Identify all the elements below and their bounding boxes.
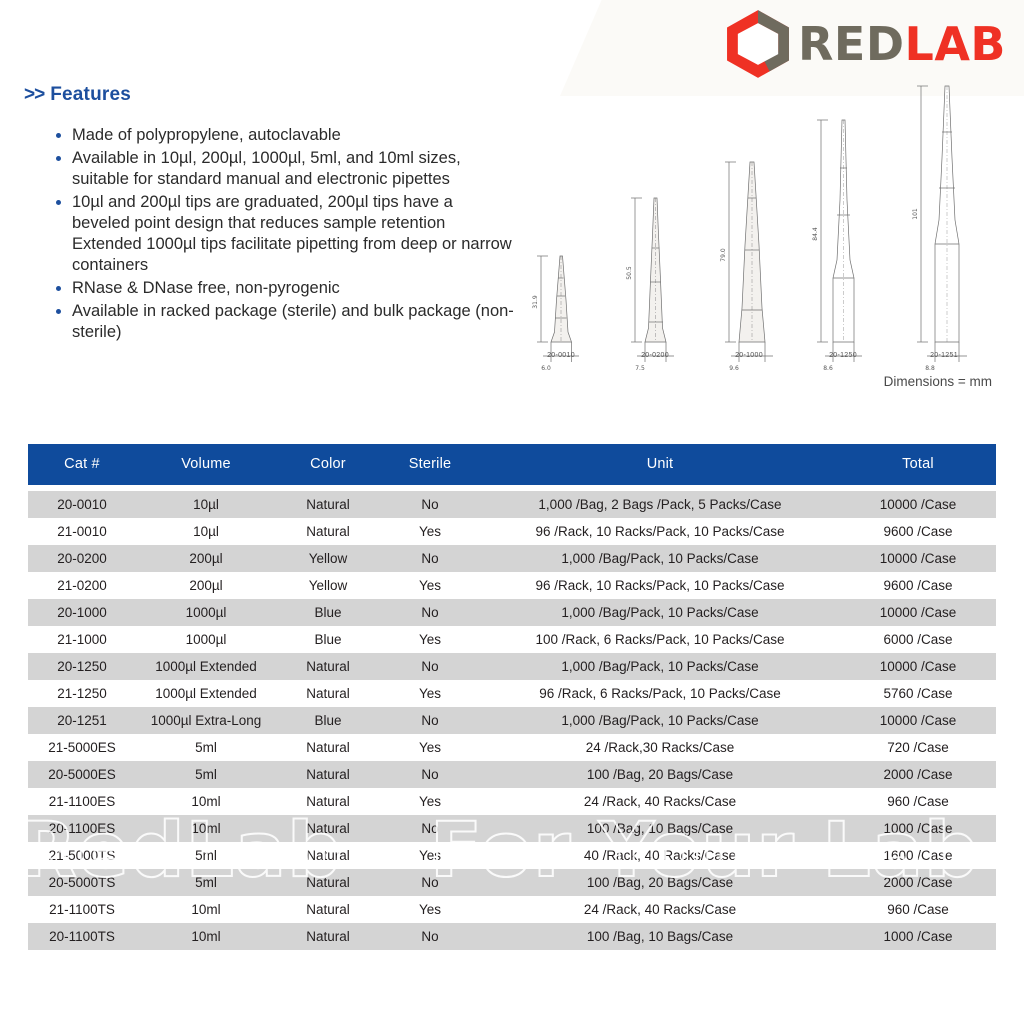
table-row[interactable]: 21-5000ES5mlNaturalYes24 /Rack,30 Racks/… xyxy=(28,734,996,761)
cell-sterile: Yes xyxy=(380,680,480,707)
cell-unit: 96 /Rack, 10 Racks/Pack, 10 Packs/Case xyxy=(480,518,840,545)
svg-text:31.9: 31.9 xyxy=(532,295,539,309)
cell-total: 2000 /Case xyxy=(840,761,996,788)
pipette-tip-diagrams: 31.9 6.0 50.5 7.5 xyxy=(515,70,1024,380)
cell-cat: 20-5000TS xyxy=(28,869,136,896)
features-heading: >>Features xyxy=(24,84,131,106)
cell-total: 10000 /Case xyxy=(840,599,996,626)
svg-text:6.0: 6.0 xyxy=(541,365,551,372)
table-row[interactable]: 20-001010µlNaturalNo1,000 /Bag, 2 Bags /… xyxy=(28,491,996,518)
cell-sterile: No xyxy=(380,923,480,950)
cell-color: Natural xyxy=(276,734,380,761)
table-row[interactable]: 20-12511000µl Extra-LongBlueNo1,000 /Bag… xyxy=(28,707,996,734)
cell-volume: 5ml xyxy=(136,734,276,761)
column-header-total[interactable]: Total xyxy=(840,444,996,485)
cell-total: 10000 /Case xyxy=(840,545,996,572)
cell-cat: 20-0200 xyxy=(28,545,136,572)
svg-text:8.8: 8.8 xyxy=(925,365,935,372)
list-item-text: 10µl and 200µl tips are graduated, 200µl… xyxy=(72,193,512,274)
cell-total: 9600 /Case xyxy=(840,518,996,545)
cell-color: Blue xyxy=(276,707,380,734)
list-item-text: Available in 10µl, 200µl, 1000µl, 5ml, a… xyxy=(72,149,461,188)
cell-color: Natural xyxy=(276,653,380,680)
cell-color: Natural xyxy=(276,842,380,869)
cell-volume: 10ml xyxy=(136,896,276,923)
bullet-icon xyxy=(56,156,61,161)
cell-volume: 10ml xyxy=(136,923,276,950)
table-row[interactable]: 21-12501000µl ExtendedNaturalYes96 /Rack… xyxy=(28,680,996,707)
cell-total: 6000 /Case xyxy=(840,626,996,653)
list-item: Made of polypropylene, autoclavable xyxy=(54,125,514,146)
cell-cat: 21-5000ES xyxy=(28,734,136,761)
cell-total: 10000 /Case xyxy=(840,707,996,734)
table-row[interactable]: 20-1100TS10mlNaturalNo100 /Bag, 10 Bags/… xyxy=(28,923,996,950)
cell-cat: 21-0010 xyxy=(28,518,136,545)
cell-color: Yellow xyxy=(276,545,380,572)
cell-color: Natural xyxy=(276,896,380,923)
features-list: Made of polypropylene, autoclavable Avai… xyxy=(54,125,514,345)
cell-color: Blue xyxy=(276,599,380,626)
svg-text:101: 101 xyxy=(912,208,919,220)
cell-unit: 1,000 /Bag/Pack, 10 Packs/Case xyxy=(480,707,840,734)
cell-sterile: No xyxy=(380,653,480,680)
cell-sterile: No xyxy=(380,545,480,572)
cell-sterile: Yes xyxy=(380,626,480,653)
table-row[interactable]: 21-10001000µlBlueYes100 /Rack, 6 Racks/P… xyxy=(28,626,996,653)
cell-volume: 1000µl Extended xyxy=(136,653,276,680)
logo-word-red: RED xyxy=(798,17,905,71)
cell-cat: 20-1100ES xyxy=(28,815,136,842)
table-row[interactable]: 20-10001000µlBlueNo1,000 /Bag/Pack, 10 P… xyxy=(28,599,996,626)
list-item: RNase & DNase free, non-pyrogenic xyxy=(54,278,514,299)
cell-color: Yellow xyxy=(276,572,380,599)
bullet-icon xyxy=(56,309,61,314)
cell-total: 9600 /Case xyxy=(840,572,996,599)
table-row[interactable]: 20-1100ES10mlNaturalNo100 /Bag, 10 Bags/… xyxy=(28,815,996,842)
cell-sterile: No xyxy=(380,761,480,788)
cell-color: Natural xyxy=(276,761,380,788)
cell-volume: 1000µl xyxy=(136,626,276,653)
cell-unit: 100 /Bag, 10 Bags/Case xyxy=(480,815,840,842)
cell-unit: 1,000 /Bag/Pack, 10 Packs/Case xyxy=(480,545,840,572)
cell-sterile: Yes xyxy=(380,734,480,761)
table-header-row: Cat # Volume Color Sterile Unit Total xyxy=(28,444,996,485)
cell-cat: 21-1100ES xyxy=(28,788,136,815)
cell-unit: 1,000 /Bag, 2 Bags /Pack, 5 Packs/Case xyxy=(480,491,840,518)
cell-sterile: Yes xyxy=(380,842,480,869)
list-item-text: Made of polypropylene, autoclavable xyxy=(72,126,341,144)
cell-volume: 10ml xyxy=(136,788,276,815)
cell-total: 10000 /Case xyxy=(840,491,996,518)
table-row[interactable]: 20-5000TS5mlNaturalNo100 /Bag, 20 Bags/C… xyxy=(28,869,996,896)
cell-volume: 1000µl Extra-Long xyxy=(136,707,276,734)
bullet-icon xyxy=(56,200,61,205)
cell-volume: 1000µl Extended xyxy=(136,680,276,707)
cell-color: Natural xyxy=(276,869,380,896)
svg-text:7.5: 7.5 xyxy=(635,365,645,372)
table-row[interactable]: 21-0200200µlYellowYes96 /Rack, 10 Racks/… xyxy=(28,572,996,599)
cell-cat: 20-1251 xyxy=(28,707,136,734)
cell-sterile: Yes xyxy=(380,518,480,545)
cell-unit: 24 /Rack, 40 Racks/Case xyxy=(480,896,840,923)
cell-volume: 1000µl xyxy=(136,599,276,626)
bullet-icon xyxy=(56,286,61,291)
hexagon-logo-icon xyxy=(722,8,794,80)
column-header-cat[interactable]: Cat # xyxy=(28,444,136,485)
column-header-color[interactable]: Color xyxy=(276,444,380,485)
cell-sterile: No xyxy=(380,707,480,734)
cell-color: Natural xyxy=(276,815,380,842)
cell-unit: 1,000 /Bag/Pack, 10 Packs/Case xyxy=(480,599,840,626)
svg-text:79.0: 79.0 xyxy=(720,248,727,262)
chevron-right-icon: >> xyxy=(24,84,44,105)
cell-cat: 20-0010 xyxy=(28,491,136,518)
cell-unit: 96 /Rack, 6 Racks/Pack, 10 Packs/Case xyxy=(480,680,840,707)
table-row[interactable]: 21-5000TS5mlNaturalYes40 /Rack, 40 Racks… xyxy=(28,842,996,869)
cell-unit: 100 /Bag, 20 Bags/Case xyxy=(480,761,840,788)
cell-color: Natural xyxy=(276,491,380,518)
table-row[interactable]: 21-1100TS10mlNaturalYes24 /Rack, 40 Rack… xyxy=(28,896,996,923)
cell-volume: 200µl xyxy=(136,545,276,572)
cell-volume: 10µl xyxy=(136,491,276,518)
cell-color: Natural xyxy=(276,518,380,545)
tip-caption: 20-0200 xyxy=(609,352,701,359)
column-header-volume[interactable]: Volume xyxy=(136,444,276,485)
cell-color: Natural xyxy=(276,923,380,950)
cell-cat: 21-1000 xyxy=(28,626,136,653)
table-row[interactable]: 21-1100ES10mlNaturalYes24 /Rack, 40 Rack… xyxy=(28,788,996,815)
cell-cat: 20-5000ES xyxy=(28,761,136,788)
list-item-text: RNase & DNase free, non-pyrogenic xyxy=(72,279,340,297)
logo-word-lab: LAB xyxy=(905,17,1006,71)
cell-sterile: No xyxy=(380,869,480,896)
cell-volume: 5ml xyxy=(136,869,276,896)
dimensions-note: Dimensions = mm xyxy=(884,374,992,389)
logo-wordmark: REDLAB xyxy=(798,21,1006,67)
tip-caption: 20-0010 xyxy=(515,352,607,359)
cell-unit: 24 /Rack,30 Racks/Case xyxy=(480,734,840,761)
cell-unit: 40 /Rack, 40 Racks/Case xyxy=(480,842,840,869)
cell-cat: 21-5000TS xyxy=(28,842,136,869)
list-item-text: Available in racked package (sterile) an… xyxy=(72,302,514,341)
list-item: 10µl and 200µl tips are graduated, 200µl… xyxy=(54,192,514,276)
specifications-table: Cat # Volume Color Sterile Unit Total 20… xyxy=(28,444,996,950)
features-heading-label: Features xyxy=(50,84,131,105)
cell-total: 1600 /Case xyxy=(840,842,996,869)
tip-caption: 20-1251 xyxy=(898,352,990,359)
svg-text:8.6: 8.6 xyxy=(823,365,833,372)
bullet-icon xyxy=(56,133,61,138)
svg-text:84.4: 84.4 xyxy=(812,227,819,241)
table-row[interactable]: 20-5000ES5mlNaturalNo100 /Bag, 20 Bags/C… xyxy=(28,761,996,788)
cell-volume: 5ml xyxy=(136,842,276,869)
svg-text:50.5: 50.5 xyxy=(626,266,633,280)
cell-volume: 10ml xyxy=(136,815,276,842)
table-row[interactable]: 21-001010µlNaturalYes96 /Rack, 10 Racks/… xyxy=(28,518,996,545)
cell-total: 720 /Case xyxy=(840,734,996,761)
cell-color: Natural xyxy=(276,680,380,707)
cell-total: 1000 /Case xyxy=(840,815,996,842)
list-item: Available in racked package (sterile) an… xyxy=(54,301,514,343)
cell-total: 960 /Case xyxy=(840,896,996,923)
cell-sterile: No xyxy=(380,815,480,842)
cell-cat: 21-1100TS xyxy=(28,896,136,923)
cell-unit: 96 /Rack, 10 Racks/Pack, 10 Packs/Case xyxy=(480,572,840,599)
list-item: Available in 10µl, 200µl, 1000µl, 5ml, a… xyxy=(54,148,514,190)
cell-total: 1000 /Case xyxy=(840,923,996,950)
cell-unit: 24 /Rack, 40 Racks/Case xyxy=(480,788,840,815)
cell-volume: 5ml xyxy=(136,761,276,788)
cell-cat: 20-1100TS xyxy=(28,923,136,950)
tip-caption: 20-1250 xyxy=(797,352,889,359)
svg-text:9.6: 9.6 xyxy=(729,365,739,372)
cell-sterile: Yes xyxy=(380,896,480,923)
cell-unit: 100 /Bag, 10 Bags/Case xyxy=(480,923,840,950)
cell-color: Blue xyxy=(276,626,380,653)
cell-sterile: No xyxy=(380,491,480,518)
brand-logo: REDLAB xyxy=(722,8,1006,80)
cell-total: 5760 /Case xyxy=(840,680,996,707)
cell-total: 960 /Case xyxy=(840,788,996,815)
column-header-sterile[interactable]: Sterile xyxy=(380,444,480,485)
cell-sterile: Yes xyxy=(380,572,480,599)
cell-cat: 20-1000 xyxy=(28,599,136,626)
column-header-unit[interactable]: Unit xyxy=(480,444,840,485)
table-row[interactable]: 20-0200200µlYellowNo1,000 /Bag/Pack, 10 … xyxy=(28,545,996,572)
cell-cat: 21-0200 xyxy=(28,572,136,599)
cell-cat: 20-1250 xyxy=(28,653,136,680)
cell-cat: 21-1250 xyxy=(28,680,136,707)
tip-caption: 20-1000 xyxy=(703,352,795,359)
cell-sterile: Yes xyxy=(380,788,480,815)
cell-total: 10000 /Case xyxy=(840,653,996,680)
cell-unit: 1,000 /Bag/Pack, 10 Packs/Case xyxy=(480,653,840,680)
cell-volume: 200µl xyxy=(136,572,276,599)
cell-unit: 100 /Rack, 6 Racks/Pack, 10 Packs/Case xyxy=(480,626,840,653)
cell-total: 2000 /Case xyxy=(840,869,996,896)
cell-volume: 10µl xyxy=(136,518,276,545)
cell-color: Natural xyxy=(276,788,380,815)
cell-sterile: No xyxy=(380,599,480,626)
cell-unit: 100 /Bag, 20 Bags/Case xyxy=(480,869,840,896)
table-row[interactable]: 20-12501000µl ExtendedNaturalNo1,000 /Ba… xyxy=(28,653,996,680)
